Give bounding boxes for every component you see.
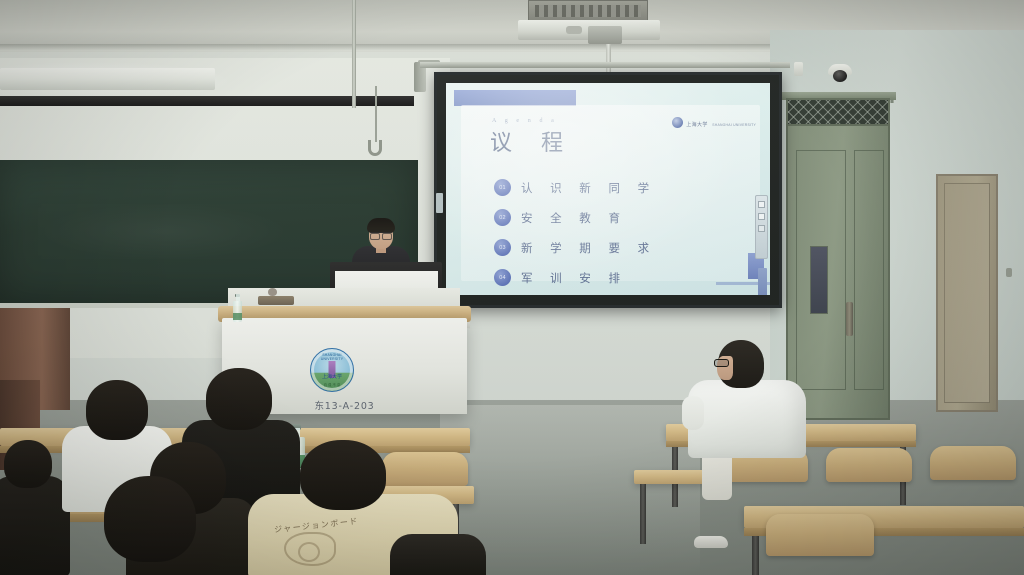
- agenda-list: 01 认 识 新 同 学 02 安 全 教 育 03 新 学 期 要 求 04 …: [494, 179, 656, 286]
- logo-cn-text: 上海大学: [686, 122, 708, 128]
- wall-recess-inner: [944, 183, 990, 403]
- student-left-edge: [0, 440, 70, 575]
- student-head: [104, 476, 196, 562]
- agenda-number-badge: 04: [494, 269, 511, 286]
- student-torso: [390, 534, 486, 575]
- fluorescent-light: [0, 68, 215, 90]
- agenda-item-label: 新 学 期 要 求: [521, 240, 656, 256]
- list-item: 03 新 学 期 要 求: [494, 239, 656, 256]
- logo-en-text: SHANGHAI UNIVERSITY: [712, 123, 756, 127]
- wall-junction-box: [794, 62, 803, 76]
- presenter-hair: [367, 218, 395, 233]
- projector-housing: [528, 0, 648, 22]
- projection-screen[interactable]: A g e n d a 议 程 上海大学 SHANGHAI UNIVERSITY…: [434, 72, 782, 308]
- screen-top-rail: [420, 62, 790, 68]
- list-item: 01 认 识 新 同 学: [494, 179, 656, 196]
- agenda-number-badge: 03: [494, 239, 511, 256]
- student-head: [206, 368, 272, 430]
- wall-recess-panel: [936, 174, 998, 412]
- student-far-right-front: [390, 516, 486, 575]
- smartboard-toolbar[interactable]: [755, 195, 768, 259]
- university-emblem: SHANGHAI UNIVERSITY 上海大学 自 强 不 息: [310, 348, 354, 392]
- slide-eyebrow: A g e n d a: [492, 118, 557, 124]
- student-arm: [682, 396, 704, 430]
- classroom-photo: A g e n d a 议 程 上海大学 SHANGHAI UNIVERSITY…: [0, 0, 1024, 575]
- toolbar-eraser-icon[interactable]: [758, 225, 765, 232]
- agenda-item-label: 安 全 教 育: [521, 210, 627, 226]
- wall-switch[interactable]: [1006, 268, 1012, 277]
- page-title: 议 程: [490, 125, 574, 157]
- student-white-shirt: [688, 340, 806, 465]
- agenda-item-label: 军 训 安 排: [521, 270, 627, 286]
- bottle-label: [233, 313, 242, 320]
- student-shoe: [694, 536, 728, 548]
- water-bottle-podium: [233, 294, 242, 322]
- ceiling-speaker: [588, 26, 622, 44]
- hanging-rod: [352, 0, 356, 108]
- student-head: [86, 380, 148, 440]
- bottle-body: [233, 301, 242, 322]
- door-panel-right: [854, 150, 884, 390]
- glasses-icon: [714, 359, 729, 367]
- logo-mark-icon: [672, 117, 683, 128]
- student-front-dark: [86, 476, 226, 575]
- keyboard-icon[interactable]: [258, 296, 294, 305]
- shirt-graphic-icon: [284, 532, 336, 566]
- door-handle-icon[interactable]: [846, 302, 853, 336]
- student-head: [300, 440, 386, 510]
- screen-side-button[interactable]: [436, 193, 443, 213]
- hook-icon: [368, 140, 382, 156]
- projector-lens-icon: [566, 26, 582, 34]
- scrollbar[interactable]: [758, 268, 767, 295]
- desk-right-small: [634, 470, 704, 484]
- student-head: [4, 440, 52, 488]
- chair-right-4[interactable]: [766, 514, 874, 556]
- projector-housing-grille: [535, 5, 641, 17]
- screen-surface: A g e n d a 议 程 上海大学 SHANGHAI UNIVERSITY…: [446, 83, 770, 295]
- toolbar-pen-icon[interactable]: [758, 213, 765, 220]
- agenda-slide: A g e n d a 议 程 上海大学 SHANGHAI UNIVERSITY…: [446, 83, 770, 295]
- emblem-motto-text: 自 强 不 息: [311, 382, 353, 387]
- agenda-number-badge: 02: [494, 209, 511, 226]
- mouse-icon[interactable]: [268, 288, 277, 296]
- student-torso: [688, 380, 806, 458]
- slide-header-bar: [454, 90, 576, 106]
- toolbar-button-icon[interactable]: [758, 201, 765, 208]
- agenda-number-badge: 01: [494, 179, 511, 196]
- desk-leg: [752, 536, 759, 575]
- emblem-cn-text: 上海大学: [311, 373, 353, 380]
- desk-leg: [640, 484, 646, 544]
- list-item: 04 军 训 安 排: [494, 269, 656, 286]
- university-logo: 上海大学 SHANGHAI UNIVERSITY: [672, 113, 756, 131]
- chair-right-2[interactable]: [826, 448, 912, 482]
- student-torso: [0, 476, 70, 575]
- chair-right-3[interactable]: [930, 446, 1016, 480]
- list-item: 02 安 全 教 育: [494, 209, 656, 226]
- security-camera-icon: [833, 70, 847, 82]
- glasses-icon: [370, 232, 392, 237]
- hanging-wire: [375, 86, 377, 142]
- door-window: [810, 246, 828, 314]
- agenda-item-label: 认 识 新 同 学: [521, 180, 656, 196]
